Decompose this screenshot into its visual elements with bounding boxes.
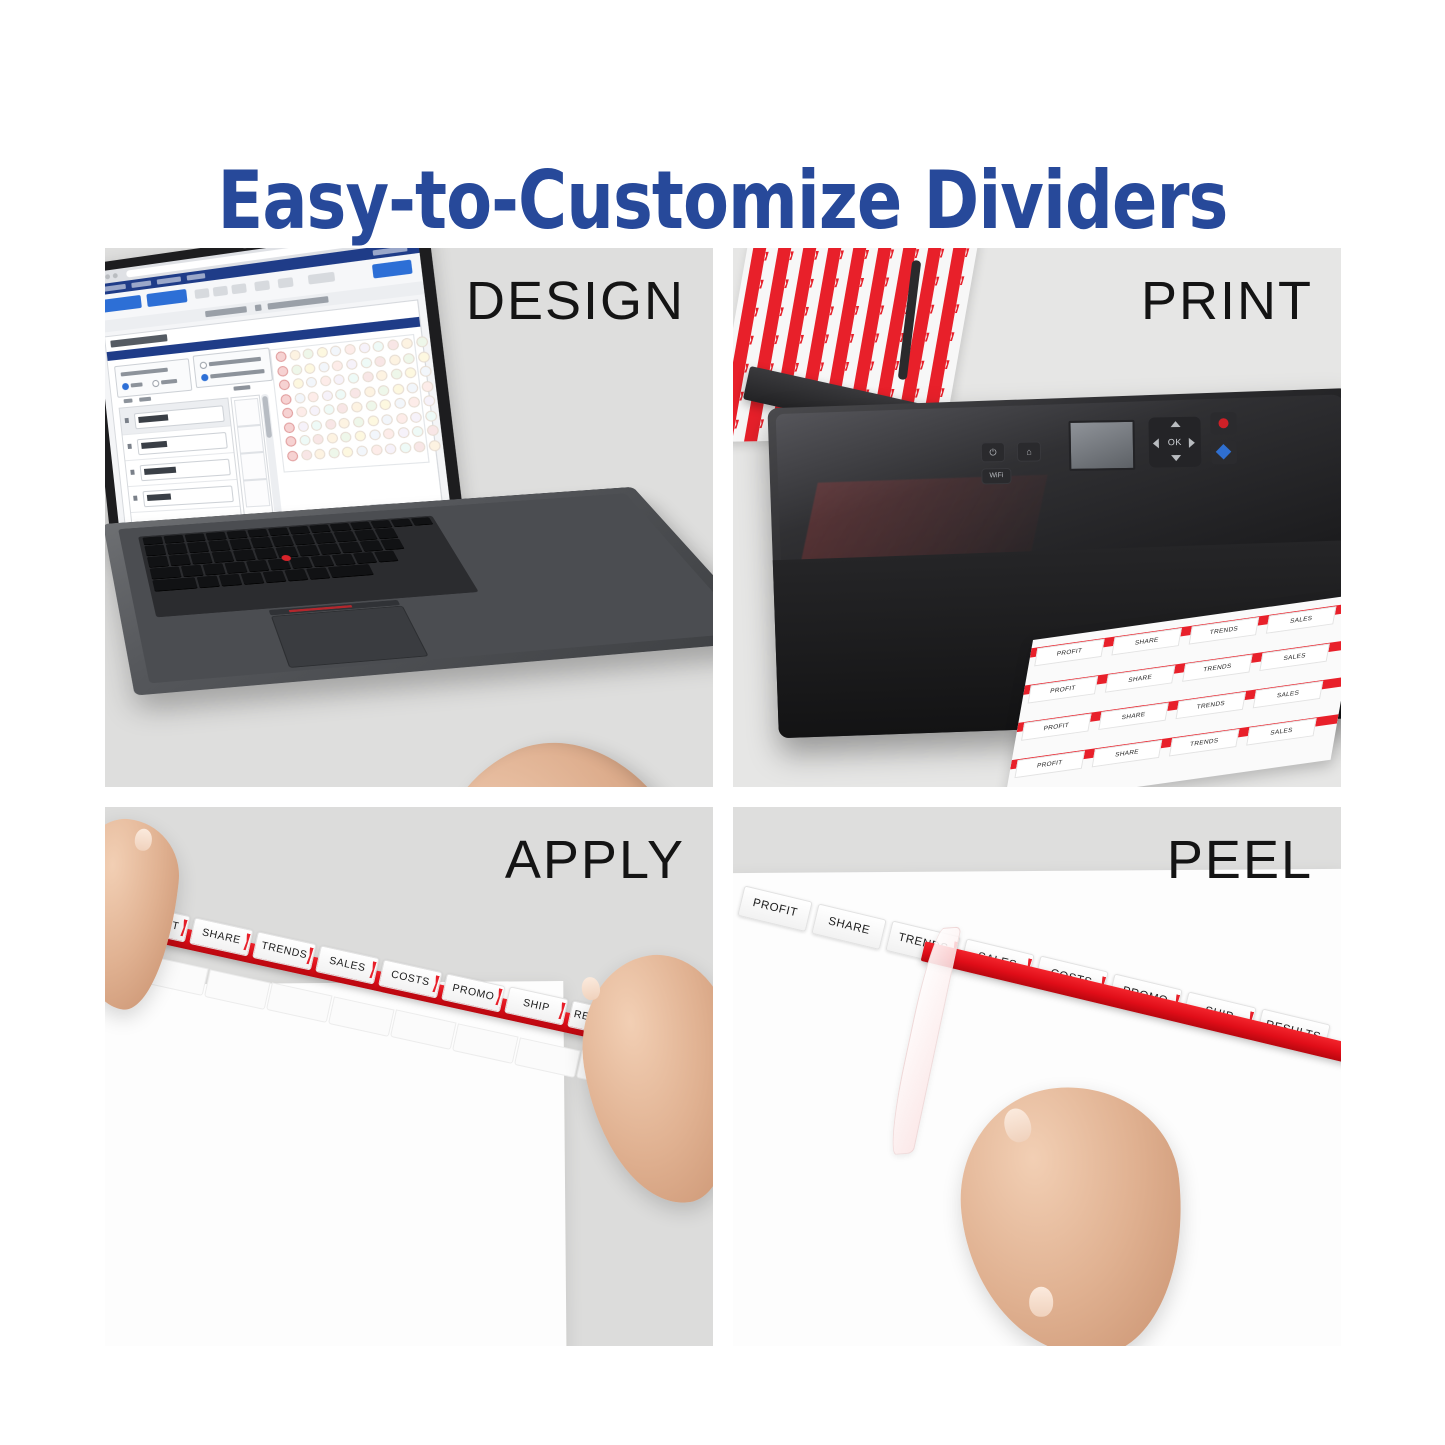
printed-tab-label: TRENDS (1169, 729, 1240, 757)
clipart-icon[interactable] (406, 381, 419, 393)
clipart-icon[interactable] (428, 439, 441, 451)
clipart-icon[interactable] (294, 392, 306, 403)
tab-row-4-input[interactable] (142, 485, 233, 507)
clipart-icon[interactable] (436, 379, 449, 391)
clipart-icon[interactable] (434, 364, 447, 376)
keyboard-key[interactable] (246, 560, 269, 572)
clipart-icon[interactable] (312, 434, 324, 445)
clipart-icon[interactable] (292, 378, 304, 390)
clipart-icon[interactable] (432, 349, 445, 361)
printed-tab-label: SHARE (1098, 702, 1169, 730)
clipart-icon[interactable] (370, 444, 383, 456)
clipart-icon[interactable] (441, 423, 453, 435)
keyboard-key[interactable] (263, 571, 287, 583)
printer-control-panel: ⏻ ⌂ WiFi OK (972, 409, 1273, 492)
clipart-icon[interactable] (280, 393, 292, 404)
toolbar-primary-button-1[interactable] (105, 295, 142, 313)
clipart-icon[interactable] (367, 415, 380, 427)
keyboard-key[interactable] (144, 545, 166, 556)
thumbnail-2[interactable] (237, 425, 264, 454)
toolbar-chip-1[interactable] (194, 288, 209, 299)
panel-print: PRINT ⏻ ⌂ WiFi OK (733, 248, 1341, 787)
printed-tab-label: TRENDS (1175, 692, 1246, 720)
same-image-label (209, 357, 261, 367)
keyboard-key[interactable] (203, 563, 226, 575)
clipart-icon[interactable] (365, 400, 378, 412)
fingernail-thumb (1000, 1105, 1034, 1145)
page-title: Easy-to-Customize Dividers (51, 158, 1395, 244)
power-button[interactable]: ⏻ (981, 442, 1005, 462)
dpad-right-icon (1189, 438, 1195, 448)
keyboard-key[interactable] (241, 572, 265, 584)
clipart-icon[interactable] (394, 397, 407, 409)
dpad-navigation[interactable]: OK (1148, 417, 1201, 468)
clipart-icon[interactable] (381, 413, 394, 425)
clipart-icon[interactable] (311, 419, 323, 430)
dpad-left-icon (1153, 438, 1159, 448)
printer-display (1068, 420, 1135, 471)
clipart-icon[interactable] (416, 336, 429, 348)
printed-tab-label: PROFIT (1034, 639, 1105, 667)
keyboard-key[interactable] (359, 540, 383, 551)
tab-row-4-value (147, 493, 171, 501)
fingernail-right (580, 976, 601, 1002)
panel-design: DESIGN (105, 248, 713, 787)
clipart-icon[interactable] (360, 356, 373, 368)
thumbnail-4[interactable] (243, 479, 270, 508)
panel-label-apply: APPLY (505, 829, 685, 891)
clipart-icon[interactable] (439, 408, 452, 420)
clipart-icon[interactable] (397, 427, 410, 439)
placement-right-radio[interactable] (152, 380, 160, 388)
clipart-icon[interactable] (356, 445, 369, 457)
keyboard-key[interactable] (318, 543, 342, 554)
clipart-icon[interactable] (333, 374, 345, 386)
placement-left-radio[interactable] (122, 383, 130, 391)
laptop-base (105, 487, 713, 696)
keyboard-key[interactable] (380, 539, 404, 550)
clipart-icon[interactable] (417, 351, 430, 363)
tab-row-2-input[interactable] (137, 432, 228, 455)
column-header-tab (124, 398, 133, 403)
clipart-icon[interactable] (340, 431, 352, 443)
clipart-icon[interactable] (412, 426, 425, 438)
printed-tab-label: SALES (1259, 643, 1330, 671)
keyboard-key[interactable] (166, 543, 188, 554)
tab-row-3-value (144, 467, 176, 475)
keyboard-key[interactable] (332, 554, 356, 565)
clipart-icon[interactable] (328, 447, 340, 458)
keyboard-key[interactable] (289, 557, 313, 569)
wifi-button[interactable]: WiFi (981, 468, 1011, 485)
column-header-text (139, 397, 151, 402)
panel-label-print: PRINT (1141, 270, 1313, 332)
clipart-icon[interactable] (351, 401, 364, 413)
printed-tab-label: PROFIT (1014, 751, 1085, 779)
clipart-icon[interactable] (413, 440, 426, 452)
keyboard-key[interactable] (208, 540, 230, 551)
clipart-icon[interactable] (342, 446, 354, 458)
keyboard-key[interactable] (353, 552, 377, 563)
clipart-icon[interactable] (283, 422, 295, 433)
clipart-icon[interactable] (344, 344, 356, 356)
keyboard-key[interactable] (247, 529, 268, 537)
keyboard-key[interactable] (374, 550, 398, 561)
clipart-icon[interactable] (354, 430, 367, 442)
keyboard-key[interactable] (292, 534, 315, 545)
keyboard-key[interactable] (375, 528, 399, 539)
keyboard-key[interactable] (219, 574, 242, 586)
clipart-icon[interactable] (275, 351, 287, 363)
stop-button[interactable] (1210, 412, 1236, 434)
dpad-down-icon (1171, 455, 1181, 461)
clipart-icon[interactable] (330, 345, 342, 357)
clipart-icon[interactable] (421, 380, 434, 392)
keyboard-key[interactable] (233, 549, 256, 560)
clipart-icon[interactable] (376, 370, 389, 382)
laptop-deck (118, 493, 713, 683)
printed-tab-label: TRENDS (1182, 654, 1253, 682)
placement-left-label (131, 382, 143, 387)
hand-right-apply (568, 945, 713, 1215)
toolbar-chip-4[interactable] (254, 280, 270, 291)
clipart-icon[interactable] (453, 392, 454, 404)
clipart-icon[interactable] (419, 365, 432, 377)
thumbnail-3[interactable] (240, 452, 267, 481)
fingernail-left (134, 828, 153, 852)
laptop-screen (105, 248, 453, 546)
tab-row-4[interactable] (128, 479, 240, 513)
keyboard-key[interactable] (289, 526, 311, 534)
start-button[interactable] (1211, 440, 1237, 464)
keyboard-key[interactable] (338, 542, 362, 553)
toolbar-primary-button-2[interactable] (146, 289, 187, 307)
printed-tab-label: TRENDS (1189, 617, 1260, 645)
keyboard-key[interactable] (197, 575, 220, 587)
panel-label-design: DESIGN (466, 270, 685, 332)
ok-button[interactable]: OK (1165, 435, 1185, 449)
keyboard-key[interactable] (271, 535, 294, 546)
clipart-icon[interactable] (361, 371, 374, 383)
clipart-icon[interactable] (426, 424, 439, 436)
keyboard-key[interactable] (150, 566, 182, 579)
keyboard-key[interactable] (164, 535, 185, 543)
tab-text-list (119, 397, 243, 530)
clipart-icon[interactable] (358, 342, 371, 354)
clipart-icon[interactable] (282, 407, 294, 418)
printed-tab-label: PROFIT (1021, 713, 1092, 741)
clipart-icon[interactable] (316, 347, 328, 359)
home-button[interactable]: ⌂ (1017, 441, 1041, 461)
same-image-radio[interactable] (199, 361, 207, 369)
keyboard-key[interactable] (333, 531, 356, 542)
panel-apply: APPLY PROFITSHARETRENDSSALESCOSTSPROMOSH… (105, 807, 713, 1346)
keyboard-key[interactable] (224, 562, 247, 574)
keyboard-key[interactable] (328, 564, 374, 577)
clipart-icon[interactable] (405, 367, 418, 379)
tab-row-1-input[interactable] (134, 405, 225, 429)
clipart-icon[interactable] (425, 410, 438, 422)
toolbar-chip-5[interactable] (278, 277, 294, 288)
different-image-label (210, 369, 265, 379)
clipart-icon[interactable] (383, 428, 396, 440)
keyboard-key[interactable] (313, 532, 336, 543)
clipart-icon[interactable] (277, 365, 289, 377)
clipart-icon[interactable] (379, 399, 392, 411)
image-placement-label (121, 368, 168, 377)
clipart-icon[interactable] (321, 389, 333, 401)
keyboard-key[interactable] (370, 520, 392, 528)
keyboard-key[interactable] (181, 565, 204, 577)
clipart-icon[interactable] (332, 359, 344, 371)
printed-tab-label: PROFIT (1028, 676, 1099, 704)
clipart-icon[interactable] (326, 432, 338, 443)
clipart-icon[interactable] (347, 372, 359, 384)
clipart-icon[interactable] (309, 405, 321, 417)
image-mode-group (193, 347, 274, 388)
clipart-icon[interactable] (318, 361, 330, 373)
keyboard-key[interactable] (306, 567, 330, 579)
clipart-icon[interactable] (372, 340, 385, 352)
tab-row-1-value (138, 414, 168, 423)
printed-tab-label: SHARE (1111, 628, 1182, 656)
keyboard-key[interactable] (147, 556, 169, 568)
tab-row-4-number (133, 496, 137, 501)
keyboard-key[interactable] (212, 551, 235, 562)
keyboard-key[interactable] (391, 519, 413, 527)
laptop (105, 256, 713, 787)
clipart-icon[interactable] (300, 449, 312, 460)
clipart-icon[interactable] (349, 387, 361, 399)
clipart-icon[interactable] (290, 364, 302, 376)
clipart-icon[interactable] (363, 385, 376, 397)
keyboard-key[interactable] (205, 532, 226, 540)
clipart-icon[interactable] (392, 383, 405, 395)
toolbar-chip-2[interactable] (213, 286, 228, 297)
clipart-icon[interactable] (387, 339, 400, 351)
clipart-icon[interactable] (335, 388, 347, 400)
clipart-icon[interactable] (324, 418, 336, 430)
clipart-icon[interactable] (297, 420, 309, 431)
clipart-icon[interactable] (403, 352, 416, 364)
clipart-icon[interactable] (295, 406, 307, 417)
clipart-icon[interactable] (306, 376, 318, 388)
dpad-up-icon (1170, 421, 1180, 427)
clipart-icon[interactable] (374, 355, 387, 367)
clipart-icon[interactable] (377, 384, 390, 396)
clipart-icon[interactable] (395, 412, 408, 424)
printed-tab-label: SHARE (1105, 665, 1176, 693)
clipart-icon[interactable] (285, 436, 297, 447)
keyboard-key[interactable] (226, 530, 247, 538)
clipart-icon[interactable] (447, 347, 453, 359)
clipart-icon[interactable] (323, 404, 335, 416)
clipart-icon[interactable] (399, 441, 412, 453)
clipart-icon[interactable] (388, 354, 401, 366)
tab-row-2-number (127, 444, 131, 449)
clipart-icon[interactable] (278, 379, 290, 390)
keyboard-row (144, 546, 147, 557)
toolbar-chip-6[interactable] (308, 272, 335, 285)
keyboard-key[interactable] (268, 527, 290, 535)
panel-peel: PEEL PROFITSHARETRENDSSALESCOSTSPROMOSHI… (733, 807, 1341, 1346)
tab-row-2-value (141, 441, 167, 449)
clipart-icon[interactable] (299, 435, 311, 446)
clipart-icon[interactable] (401, 337, 414, 349)
keyboard-key[interactable] (284, 569, 308, 581)
keyboard-key[interactable] (229, 538, 252, 549)
keyboard-key[interactable] (190, 552, 213, 563)
keyboard[interactable] (138, 516, 479, 618)
keyboard-key[interactable] (354, 529, 378, 540)
keyboard-key[interactable] (250, 537, 273, 548)
panel-label-peel: PEEL (1167, 829, 1313, 891)
keyboard-key[interactable] (296, 545, 319, 556)
clipart-icon[interactable] (302, 348, 314, 360)
product-infographic: Easy-to-Customize Dividers DESIGN (0, 0, 1445, 1445)
clipart-icon[interactable] (307, 391, 319, 403)
clipart-icon[interactable] (438, 394, 451, 406)
clipart-icon[interactable] (451, 377, 454, 389)
clipart-icon[interactable] (368, 429, 381, 441)
steps-grid: DESIGN (105, 248, 1341, 1346)
clipart-icon[interactable] (423, 395, 436, 407)
keyboard-key[interactable] (411, 517, 433, 525)
clipart-icon[interactable] (408, 396, 421, 408)
tab-row-1-number (125, 418, 129, 423)
column-header-image (233, 385, 250, 391)
printed-tab-label: SALES (1253, 681, 1324, 709)
keyboard-row (150, 569, 153, 581)
toolbar-chip-3[interactable] (231, 283, 247, 294)
clipart-icon[interactable] (319, 375, 331, 387)
keyboard-key[interactable] (152, 577, 197, 591)
keyboard-key[interactable] (330, 523, 352, 531)
clipart-icon[interactable] (314, 448, 326, 459)
keyboard-row (152, 580, 155, 592)
clipart-icon[interactable] (289, 349, 301, 361)
keyboard-key[interactable] (350, 521, 372, 529)
clipart-icon[interactable] (449, 362, 453, 374)
clipart-icon[interactable] (337, 402, 349, 414)
clipart-icon[interactable] (390, 368, 403, 380)
keyboard-key[interactable] (187, 541, 209, 552)
clipart-icon[interactable] (304, 362, 316, 374)
clipart-icon[interactable] (430, 334, 443, 346)
keyboard-key[interactable] (254, 548, 277, 559)
clipart-icon[interactable] (443, 438, 453, 450)
clipart-icon[interactable] (346, 358, 358, 370)
webcam-icon (242, 248, 247, 249)
tab-row-3-input[interactable] (140, 459, 231, 482)
clipart-icon[interactable] (410, 411, 423, 423)
clipart-icon[interactable] (384, 443, 397, 455)
placement-right-label (161, 379, 177, 385)
toolbar-action-button[interactable] (372, 260, 413, 279)
keyboard-row (147, 557, 150, 568)
printed-tab-label: SALES (1246, 718, 1317, 746)
clipart-icon[interactable] (352, 416, 365, 428)
clipart-icon[interactable] (445, 333, 453, 345)
keyboard-key[interactable] (310, 555, 334, 567)
clipart-icon[interactable] (338, 417, 350, 429)
printed-tab-label: SALES (1266, 606, 1337, 634)
keyboard-key[interactable] (309, 524, 331, 532)
tab-row-3-number (130, 470, 134, 475)
touchpad[interactable] (271, 606, 429, 668)
keyboard-key[interactable] (169, 554, 191, 565)
keyboard-key[interactable] (142, 536, 163, 544)
different-image-radio[interactable] (201, 374, 209, 382)
fingernail-index (1029, 1287, 1053, 1317)
image-placement-group (114, 358, 192, 398)
keyboard-key[interactable] (185, 533, 206, 541)
clipart-icon[interactable] (287, 450, 299, 461)
printed-tab-label: SHARE (1092, 740, 1163, 768)
thumbnail-1[interactable] (234, 398, 261, 427)
hand-typing (381, 702, 713, 787)
clipart-icon-grid[interactable] (269, 334, 429, 473)
